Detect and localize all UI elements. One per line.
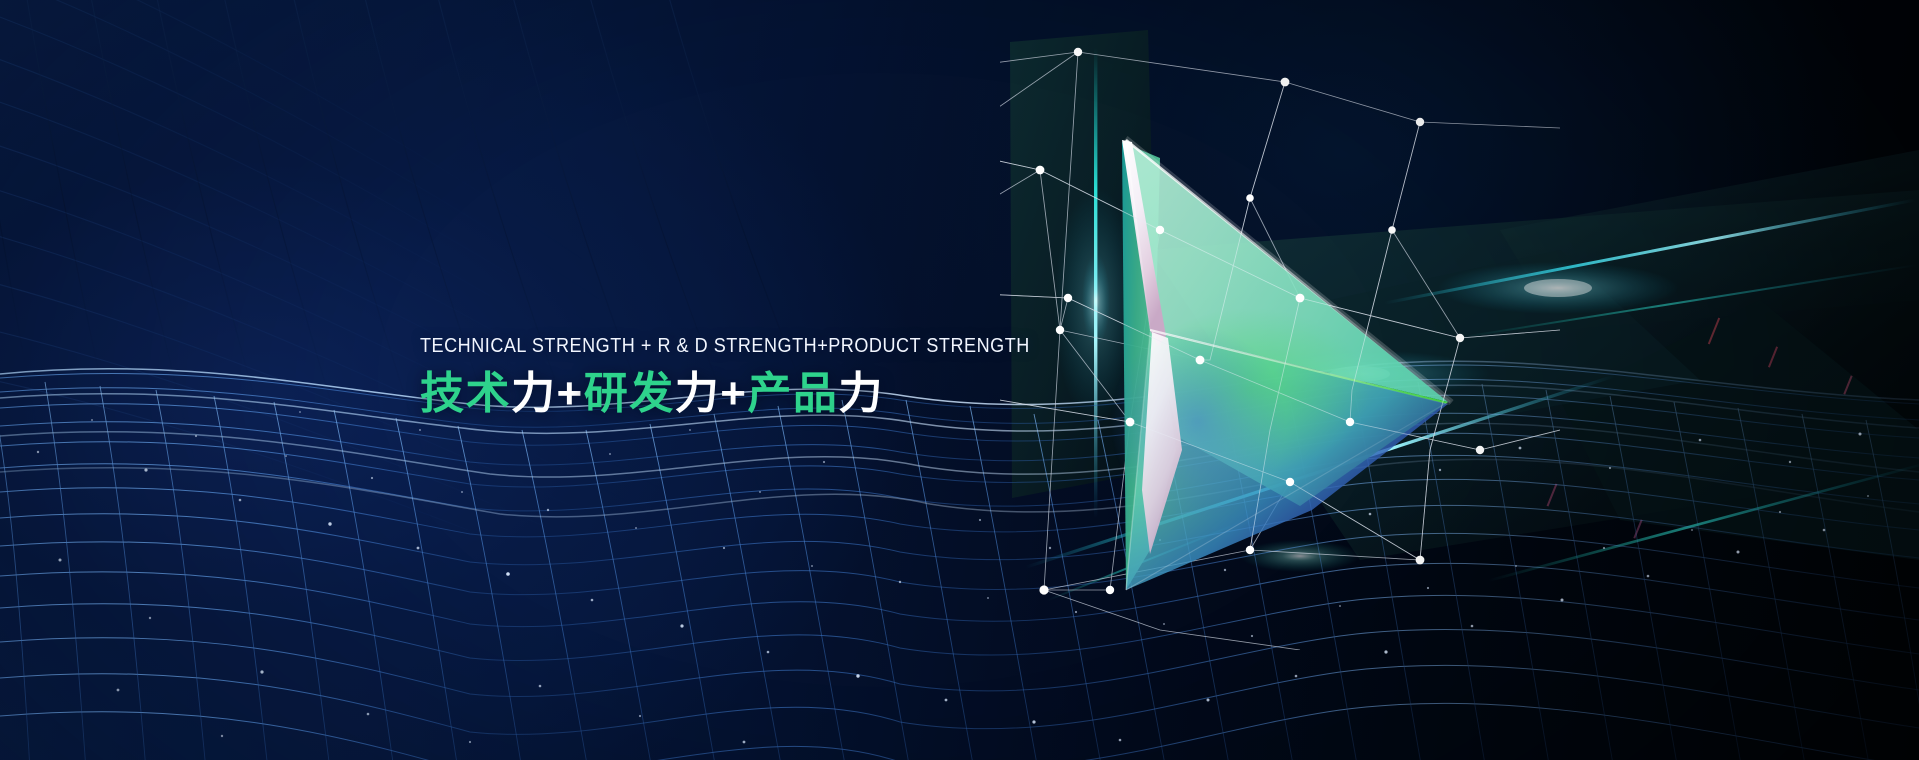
title-segment-yanfa: 研发 (584, 369, 675, 418)
title-plus-1: + (557, 369, 584, 418)
title-segment-chanpin: 产品 (747, 369, 838, 418)
title-segment-li-1: 力 (511, 369, 557, 418)
hero-banner: TECHNICAL STRENGTH + R & D STRENGTH+PROD… (0, 0, 1919, 760)
page-title: 技术力+研发力+产品力 (420, 369, 1040, 418)
curved-grid-overlay (0, 0, 840, 530)
headline-block: TECHNICAL STRENGTH + R & D STRENGTH+PROD… (420, 336, 1040, 418)
title-segment-li-2: 力 (675, 369, 721, 418)
prism-artwork (1000, 30, 1560, 650)
eyebrow-text: TECHNICAL STRENGTH + R & D STRENGTH+PROD… (420, 336, 966, 357)
title-segment-jishu: 技术 (420, 369, 511, 418)
title-segment-li-3: 力 (838, 369, 884, 418)
prism-glow-blue (1110, 326, 1286, 518)
title-plus-2: + (720, 369, 747, 418)
